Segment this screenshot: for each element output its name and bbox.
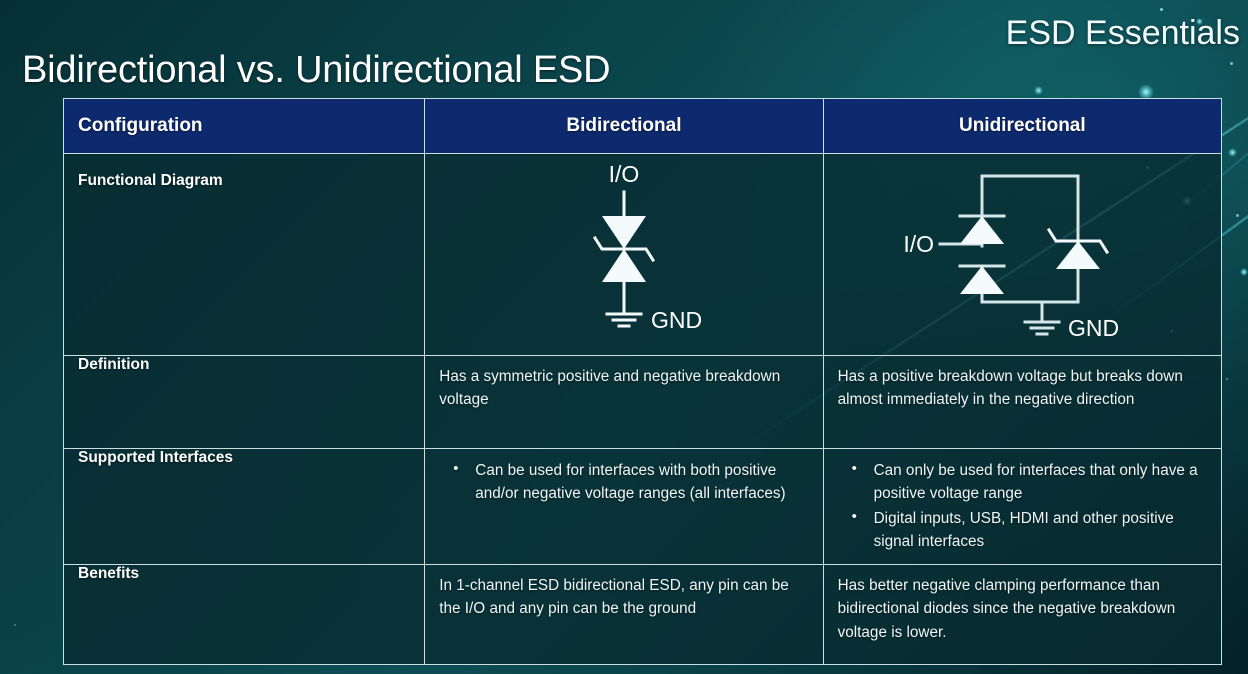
- list-item: Can be used for interfaces with both pos…: [461, 459, 808, 506]
- diode-triangle-up-icon: [960, 266, 1004, 294]
- cell-benefits-unidirectional: Has better negative clamping performance…: [823, 565, 1221, 665]
- sparkle-dot-icon: [1226, 378, 1228, 380]
- table-row: Functional Diagram: [64, 154, 1222, 356]
- column-header-unidirectional: Unidirectional: [823, 99, 1221, 154]
- diode-triangle-up-icon: [960, 216, 1004, 244]
- sparkle-dot-icon: [1160, 8, 1163, 11]
- table-header: Configuration Bidirectional Unidirection…: [64, 99, 1222, 154]
- cell-definition-unidirectional: Has a positive breakdown voltage but bre…: [823, 356, 1221, 449]
- row-label-definition: Definition: [64, 356, 425, 449]
- io-label: I/O: [609, 161, 640, 187]
- sparkle-dot-icon: [14, 624, 16, 626]
- sparkle-icon: [1240, 268, 1248, 276]
- diode-triangle-down-icon: [602, 216, 646, 249]
- cell-supported-unidirectional: Can only be used for interfaces that onl…: [823, 449, 1221, 565]
- cell-unidirectional-diagram: I/O GND: [823, 154, 1221, 356]
- cell-benefits-bidirectional: In 1-channel ESD bidirectional ESD, any …: [425, 565, 823, 665]
- slide-series-label: ESD Essentials: [1006, 14, 1240, 53]
- table-body: Functional Diagram: [64, 154, 1222, 665]
- slide-canvas: Bidirectional vs. Unidirectional ESD ESD…: [0, 0, 1248, 674]
- diode-triangle-up-icon: [602, 249, 646, 282]
- bullet-list: Can be used for interfaces with both pos…: [439, 459, 808, 506]
- column-header-bidirectional: Bidirectional: [425, 99, 823, 154]
- bullet-list: Can only be used for interfaces that onl…: [838, 459, 1207, 553]
- comparison-table-container: Configuration Bidirectional Unidirection…: [63, 98, 1222, 663]
- cell-supported-bidirectional: Can be used for interfaces with both pos…: [425, 449, 823, 565]
- sparkle-icon: [1228, 148, 1237, 157]
- zener-diode-triangle-icon: [1056, 241, 1100, 269]
- unidirectional-esd-array-schematic-icon: I/O GND: [882, 154, 1162, 349]
- gnd-label: GND: [1068, 315, 1119, 341]
- cell-definition-bidirectional: Has a symmetric positive and negative br…: [425, 356, 823, 449]
- sparkle-icon: [1034, 86, 1043, 95]
- page-title: Bidirectional vs. Unidirectional ESD: [22, 49, 610, 92]
- cell-bidirectional-diagram: I/O GND: [425, 154, 823, 356]
- table-header-row: Configuration Bidirectional Unidirection…: [64, 99, 1222, 154]
- sparkle-dot-icon: [1230, 62, 1233, 65]
- column-header-configuration: Configuration: [64, 99, 425, 154]
- benefits-bidirectional-text: In 1-channel ESD bidirectional ESD, any …: [439, 574, 808, 621]
- table-row: Definition Has a symmetric positive and …: [64, 356, 1222, 449]
- list-item: Can only be used for interfaces that onl…: [860, 459, 1207, 506]
- comparison-table: Configuration Bidirectional Unidirection…: [63, 98, 1222, 665]
- definition-unidirectional-text: Has a positive breakdown voltage but bre…: [838, 365, 1207, 412]
- row-label-functional-diagram: Functional Diagram: [64, 154, 425, 356]
- row-label-benefits: Benefits: [64, 565, 425, 665]
- bidirectional-tvs-diode-schematic-icon: I/O GND: [509, 154, 739, 349]
- row-label-supported-interfaces: Supported Interfaces: [64, 449, 425, 565]
- gnd-label: GND: [651, 307, 702, 333]
- io-label: I/O: [904, 231, 935, 257]
- table-row: Benefits In 1-channel ESD bidirectional …: [64, 565, 1222, 665]
- list-item: Digital inputs, USB, HDMI and other posi…: [860, 507, 1207, 554]
- table-row: Supported Interfaces Can be used for int…: [64, 449, 1222, 565]
- sparkle-dot-icon: [1236, 214, 1239, 217]
- benefits-unidirectional-text: Has better negative clamping performance…: [838, 574, 1207, 644]
- definition-bidirectional-text: Has a symmetric positive and negative br…: [439, 365, 808, 412]
